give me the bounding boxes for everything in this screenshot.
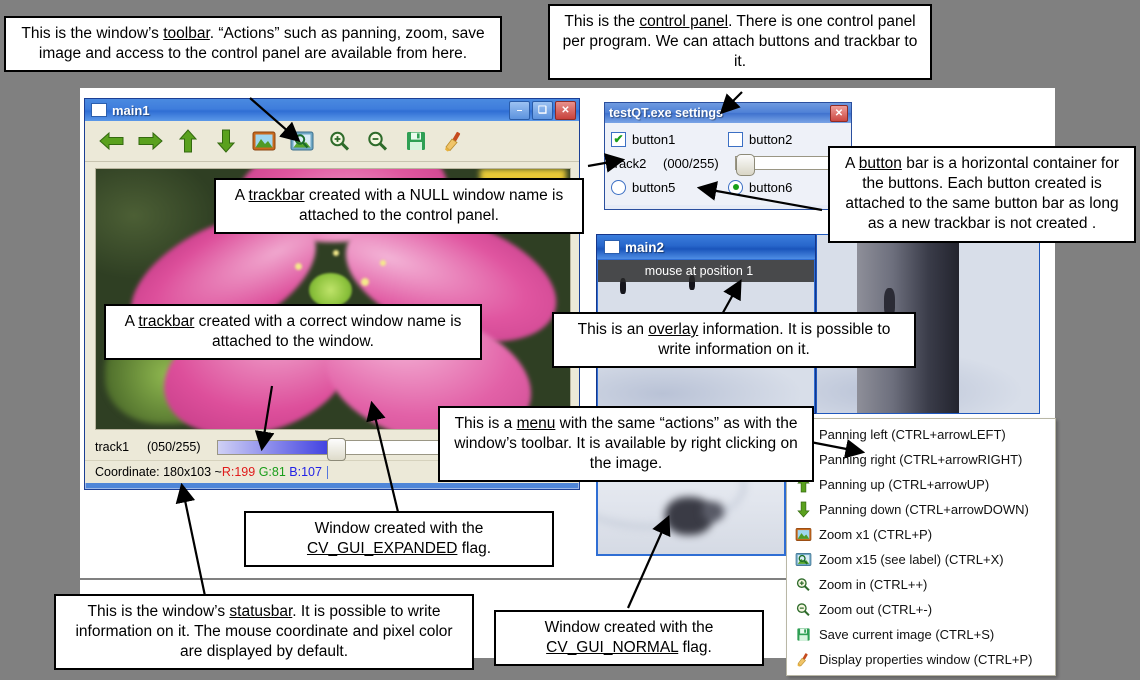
callout-expanded-tail: flag. <box>457 540 491 557</box>
control-panel-trackbar[interactable]: track2 (000/255) <box>611 151 845 175</box>
pan-right-icon[interactable] <box>131 124 169 158</box>
trackbar-value: (050/255) <box>147 440 217 454</box>
status-caret <box>327 466 328 479</box>
callout-button-bar-keyword: button <box>859 155 902 172</box>
checkbox-icon[interactable] <box>611 132 626 147</box>
zoom-out-icon <box>791 600 815 620</box>
menu-item-zoom-x1[interactable]: Zoom x1 (CTRL+P) <box>787 522 1055 547</box>
main2-overlay: mouse at position 1 <box>598 260 814 282</box>
pan-left-icon[interactable] <box>93 124 131 158</box>
main1-titlebar[interactable]: main1 – ❑ ✕ <box>85 99 579 121</box>
close-icon[interactable]: ✕ <box>830 105 848 122</box>
main1-window-buttons: – ❑ ✕ <box>509 101 576 120</box>
callout-normal-tail: flag. <box>678 639 712 656</box>
callout-statusbar: This is the window’s statusbar. It is po… <box>54 594 474 670</box>
pan-down-icon <box>791 500 815 520</box>
callout-trackbar-null-keyword: trackbar <box>249 187 305 204</box>
control-panel-body: button1 button2 track2 (000/255) <box>605 123 851 205</box>
status-blue-value: B:107 <box>289 465 322 479</box>
window-control-panel[interactable]: testQT.exe settings ✕ button1 button2 tr… <box>604 102 852 210</box>
callout-expanded-flagname: CV_GUI_EXPANDED <box>307 540 457 557</box>
checkbox-button1[interactable]: button1 <box>611 132 728 147</box>
callout-trackbar-window-keyword: trackbar <box>138 313 194 330</box>
checkbox-button2-label: button2 <box>749 132 792 147</box>
zoom-x15-icon[interactable] <box>283 124 321 158</box>
properties-icon <box>791 650 815 670</box>
callout-toolbar-keyword: toolbar <box>163 25 210 42</box>
callout-trackbar-window: A trackbar created with a correct window… <box>104 304 482 360</box>
pan-down-icon[interactable] <box>207 124 245 158</box>
callout-expanded-flag: Window created with the CV_GUI_EXPANDED … <box>244 511 554 567</box>
callout-normal-line1: Window created with the <box>545 619 714 636</box>
radio-button5[interactable]: button5 <box>611 180 728 195</box>
callout-statusbar-keyword: statusbar <box>229 603 292 620</box>
maximize-button[interactable]: ❑ <box>532 101 553 120</box>
menu-item-label: Display properties window (CTRL+P) <box>819 653 1033 666</box>
radio-icon[interactable] <box>728 180 743 195</box>
close-button[interactable]: ✕ <box>555 101 576 120</box>
zoom-x1-icon[interactable] <box>245 124 283 158</box>
pan-up-icon[interactable] <box>169 124 207 158</box>
menu-item-label: Save current image (CTRL+S) <box>819 628 994 641</box>
main1-title: main1 <box>112 103 150 118</box>
window-icon <box>91 103 107 117</box>
checkbox-icon[interactable] <box>728 132 743 147</box>
zoom-x15-icon <box>791 550 815 570</box>
save-icon <box>791 625 815 645</box>
status-coordinate: Coordinate: 180x103 ~ <box>95 465 222 479</box>
cp-trackbar-name: track2 <box>611 156 663 171</box>
checkbox-button2[interactable]: button2 <box>728 132 845 147</box>
menu-item-label: Zoom x15 (see label) (CTRL+X) <box>819 553 1004 566</box>
window-icon <box>604 240 620 254</box>
zoom-in-icon[interactable] <box>321 124 359 158</box>
callout-normal-flagname: CV_GUI_NORMAL <box>546 639 678 656</box>
menu-item-panning-left[interactable]: Panning left (CTRL+arrowLEFT) <box>787 422 1055 447</box>
flower-center <box>309 273 352 307</box>
callout-toolbar: This is the window’s toolbar. “Actions” … <box>4 16 502 72</box>
callout-overlay: This is an overlay information. It is po… <box>552 312 916 368</box>
callout-control-panel-keyword: control panel <box>639 13 728 30</box>
minimize-button[interactable]: – <box>509 101 530 120</box>
properties-icon[interactable] <box>435 124 473 158</box>
callout-control-panel: This is the control panel. There is one … <box>548 4 932 80</box>
flower-stamen <box>295 263 302 270</box>
main2-title: main2 <box>625 240 664 255</box>
radio-icon[interactable] <box>611 180 626 195</box>
trackbar-name: track1 <box>95 440 147 454</box>
zoom-in-icon <box>791 575 815 595</box>
callout-normal-flag: Window created with the CV_GUI_NORMAL fl… <box>494 610 764 666</box>
callout-overlay-keyword: overlay <box>648 321 698 338</box>
menu-item-label: Panning right (CTRL+arrowRIGHT) <box>819 453 1022 466</box>
control-panel-button-bar-top: button1 button2 <box>611 127 845 151</box>
zoom-x1-icon <box>791 525 815 545</box>
menu-item-label: Panning up (CTRL+arrowUP) <box>819 478 989 491</box>
menu-item-zoom-in[interactable]: Zoom in (CTRL++) <box>787 572 1055 597</box>
callout-menu-keyword: menu <box>517 415 556 432</box>
menu-item-zoom-x15[interactable]: Zoom x15 (see label) (CTRL+X) <box>787 547 1055 572</box>
callout-expanded-line1: Window created with the <box>315 520 484 537</box>
radio-button6-label: button6 <box>749 180 792 195</box>
main2-titlebar[interactable]: main2 <box>597 235 815 259</box>
menu-item-label: Zoom x1 (CTRL+P) <box>819 528 932 541</box>
callout-menu: This is a menu with the same “actions” a… <box>438 406 814 482</box>
menu-item-panning-down[interactable]: Panning down (CTRL+arrowDOWN) <box>787 497 1055 522</box>
menu-item-panning-right[interactable]: Panning right (CTRL+arrowRIGHT) <box>787 447 1055 472</box>
menu-item-save[interactable]: Save current image (CTRL+S) <box>787 622 1055 647</box>
menu-item-zoom-out[interactable]: Zoom out (CTRL+-) <box>787 597 1055 622</box>
menu-item-label: Panning left (CTRL+arrowLEFT) <box>819 428 1006 441</box>
overlay-text: mouse at position 1 <box>645 264 753 278</box>
menu-item-label: Zoom in (CTRL++) <box>819 578 927 591</box>
radio-button5-label: button5 <box>632 180 675 195</box>
status-red-value: R:199 <box>222 465 255 479</box>
control-panel-titlebar[interactable]: testQT.exe settings ✕ <box>605 103 851 123</box>
checkbox-button1-label: button1 <box>632 132 675 147</box>
context-menu[interactable]: Panning left (CTRL+arrowLEFT) Panning ri… <box>786 418 1056 676</box>
callout-button-bar: A button bar is a horizontal container f… <box>828 146 1136 243</box>
menu-item-label: Panning down (CTRL+arrowDOWN) <box>819 503 1029 516</box>
menu-item-label: Zoom out (CTRL+-) <box>819 603 932 616</box>
menu-item-panning-up[interactable]: Panning up (CTRL+arrowUP) <box>787 472 1055 497</box>
control-panel-title: testQT.exe settings <box>609 106 723 120</box>
save-icon[interactable] <box>397 124 435 158</box>
zoom-out-icon[interactable] <box>359 124 397 158</box>
callout-trackbar-null: A trackbar created with a NULL window na… <box>214 178 584 234</box>
cp-trackbar-knob[interactable] <box>736 154 755 176</box>
flower-stamen <box>333 250 339 256</box>
menu-item-properties[interactable]: Display properties window (CTRL+P) <box>787 647 1055 672</box>
status-green-value: G:81 <box>259 465 286 479</box>
main1-toolbar[interactable] <box>85 121 579 162</box>
cp-trackbar-value: (000/255) <box>663 156 735 171</box>
control-panel-button-bar-bottom: button5 button6 <box>611 175 845 199</box>
trackbar-fill <box>218 441 334 454</box>
screenshot-root: main1 – ❑ ✕ <box>0 0 1140 680</box>
trackbar-knob[interactable] <box>327 438 346 461</box>
